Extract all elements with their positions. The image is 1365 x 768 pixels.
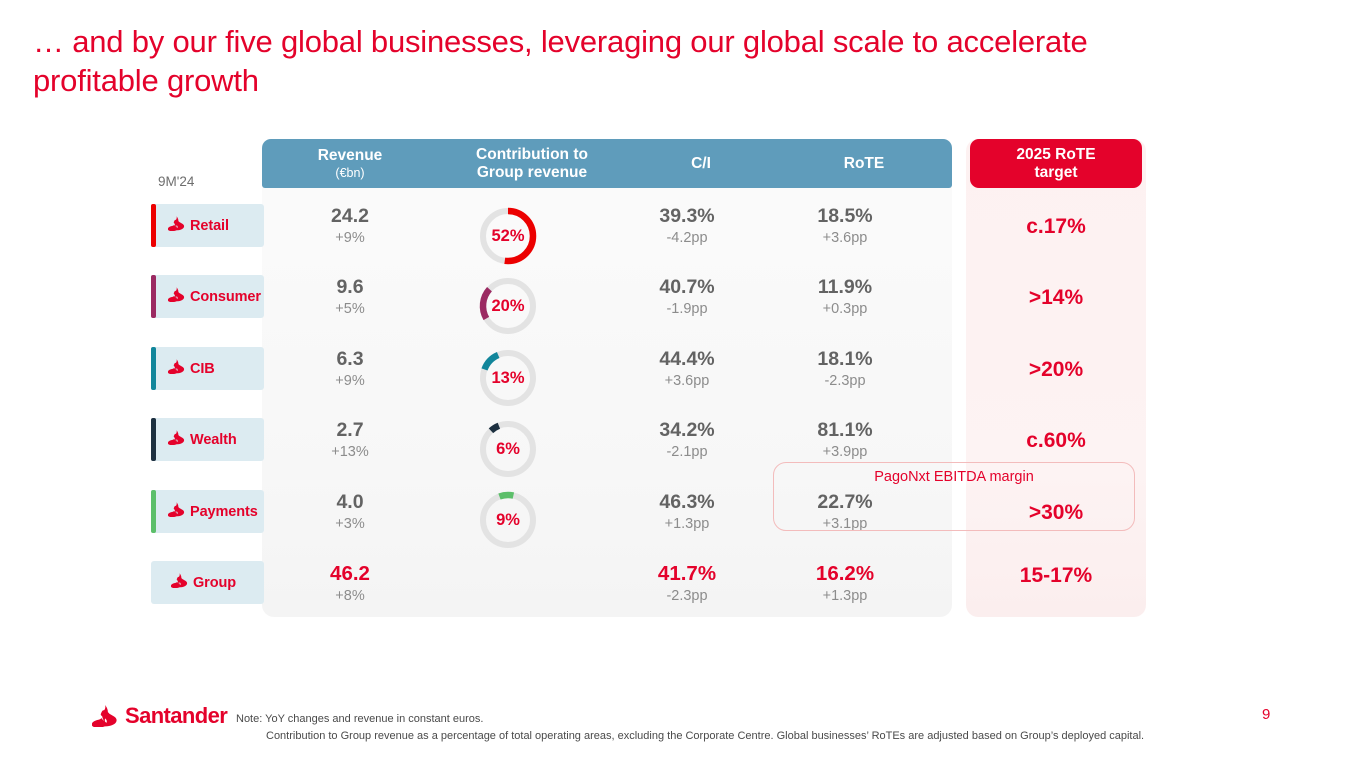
table-row: Wealth2.7+13% 6%34.2%-2.1pp81.1%+3.9ppc.… (0, 415, 1365, 487)
revenue-value: 9.6 (262, 276, 438, 299)
rote-cell: 16.2%+1.3pp (769, 562, 921, 605)
santander-logo: Santander (92, 703, 227, 729)
period-label: 9M'24 (158, 174, 194, 189)
chip-flame-icon (168, 359, 185, 379)
santander-flame-icon (92, 705, 118, 727)
slide: … and by our five global businesses, lev… (0, 0, 1365, 768)
footnote: Note: YoY changes and revenue in constan… (236, 711, 1246, 745)
business-color-bar (151, 204, 156, 247)
revenue-cell: 24.2+9% (262, 205, 438, 247)
rote-value: 11.9% (769, 276, 921, 299)
header-ci: C/I (626, 139, 776, 188)
contribution-donut-cib: 13% (477, 347, 539, 409)
revenue-value: 4.0 (262, 491, 438, 514)
business-chip-consumer[interactable]: Consumer (151, 275, 264, 318)
santander-flame-icon (171, 573, 188, 588)
table-row: CIB6.3+9% 13%44.4%+3.6pp18.1%-2.3pp>20% (0, 344, 1365, 416)
contribution-donut-retail: 52% (477, 205, 539, 267)
business-chip-payments[interactable]: Payments (151, 490, 264, 533)
ci-delta: -4.2pp (611, 230, 763, 247)
target-value: 15-17% (1020, 564, 1092, 587)
pagonxt-callout: PagoNxt EBITDA margin (773, 462, 1135, 531)
business-name: Group (193, 575, 236, 591)
santander-wordmark: Santander (125, 703, 227, 729)
revenue-cell: 6.3+9% (262, 348, 438, 390)
rote-cell: 18.1%-2.3pp (769, 348, 921, 390)
revenue-value: 6.3 (262, 348, 438, 371)
rote-delta: -2.3pp (769, 373, 921, 390)
pagonxt-caption: PagoNxt EBITDA margin (774, 469, 1134, 485)
contribution-label: 13% (477, 347, 539, 409)
business-name: CIB (190, 361, 215, 377)
rote-cell: 11.9%+0.3pp (769, 276, 921, 318)
rote-value: 18.5% (769, 205, 921, 228)
ci-cell: 46.3%+1.3pp (611, 491, 763, 533)
ci-cell: 34.2%-2.1pp (611, 419, 763, 461)
table-row: Consumer9.6+5% 20%40.7%-1.9pp11.9%+0.3pp… (0, 272, 1365, 344)
contribution-donut-consumer: 20% (477, 275, 539, 337)
revenue-delta: +3% (262, 516, 438, 533)
contribution-label: 52% (477, 205, 539, 267)
page-number: 9 (1262, 706, 1270, 723)
santander-flame-icon (168, 502, 185, 517)
header-revenue: Revenue (€bn) (262, 139, 438, 188)
business-name: Payments (190, 504, 258, 520)
ci-value: 39.3% (611, 205, 763, 228)
business-color-bar (151, 347, 156, 390)
revenue-delta: +5% (262, 301, 438, 318)
rote-cell: 18.5%+3.6pp (769, 205, 921, 247)
revenue-cell: 46.2+8% (262, 562, 438, 605)
rote-delta: +3.6pp (769, 230, 921, 247)
table-row: Retail24.2+9% 52%39.3%-4.2pp18.5%+3.6ppc… (0, 201, 1365, 273)
business-name: Consumer (190, 289, 261, 305)
revenue-value: 46.2 (262, 562, 438, 586)
revenue-delta: +9% (262, 230, 438, 247)
table-row: Group46.2+8%41.7%-2.3pp16.2%+1.3pp15-17% (0, 558, 1365, 630)
chip-flame-icon (171, 573, 188, 593)
ci-cell: 41.7%-2.3pp (611, 562, 763, 605)
business-color-bar (151, 275, 156, 318)
ci-delta: -2.1pp (611, 444, 763, 461)
target-value: >20% (1029, 358, 1083, 381)
business-chip-cib[interactable]: CIB (151, 347, 264, 390)
revenue-cell: 2.7+13% (262, 419, 438, 461)
contribution-donut-wealth: 6% (477, 418, 539, 480)
revenue-value: 24.2 (262, 205, 438, 228)
chip-flame-icon (168, 430, 185, 450)
target-cell: c.60% (966, 429, 1146, 453)
contribution-label: 6% (477, 418, 539, 480)
business-color-bar (151, 418, 156, 461)
rote-delta: +3.9pp (769, 444, 921, 461)
rote-delta: +1.3pp (769, 588, 921, 605)
business-chip-wealth[interactable]: Wealth (151, 418, 264, 461)
rote-value: 16.2% (769, 562, 921, 586)
target-cell: 15-17% (966, 564, 1146, 588)
header-target: 2025 RoTE target (970, 139, 1142, 188)
footnote-line-2: Contribution to Group revenue as a perce… (266, 728, 1246, 745)
ci-value: 46.3% (611, 491, 763, 514)
page-title: … and by our five global businesses, lev… (33, 22, 1213, 101)
revenue-delta: +8% (262, 588, 438, 605)
chip-flame-icon (168, 502, 185, 522)
rote-cell: 81.1%+3.9pp (769, 419, 921, 461)
header-rote: RoTE (776, 139, 952, 188)
rote-delta: +0.3pp (769, 301, 921, 318)
santander-flame-icon (168, 216, 185, 231)
chip-flame-icon (168, 287, 185, 307)
ci-delta: +3.6pp (611, 373, 763, 390)
rote-value: 81.1% (769, 419, 921, 442)
table-header-bar: Revenue (€bn) Contribution to Group reve… (262, 139, 952, 188)
ci-delta: +1.3pp (611, 516, 763, 533)
business-name: Retail (190, 218, 229, 234)
ci-cell: 40.7%-1.9pp (611, 276, 763, 318)
contribution-label: 20% (477, 275, 539, 337)
table-row: Payments4.0+3% 9%46.3%+1.3pp22.7%+3.1pp>… (0, 487, 1365, 559)
target-cell: >14% (966, 286, 1146, 310)
contribution-donut-payments: 9% (477, 489, 539, 551)
ci-delta: -2.3pp (611, 588, 763, 605)
business-name: Wealth (190, 432, 237, 448)
target-value: c.17% (1026, 215, 1086, 238)
santander-flame-icon (168, 287, 185, 302)
revenue-cell: 9.6+5% (262, 276, 438, 318)
ci-cell: 39.3%-4.2pp (611, 205, 763, 247)
target-cell: >20% (966, 358, 1146, 382)
business-color-bar (151, 490, 156, 533)
santander-flame-icon (168, 430, 185, 445)
ci-cell: 44.4%+3.6pp (611, 348, 763, 390)
revenue-delta: +9% (262, 373, 438, 390)
table-header-target: 2025 RoTE target (970, 139, 1142, 188)
ci-delta: -1.9pp (611, 301, 763, 318)
target-value: c.60% (1026, 429, 1086, 452)
ci-value: 34.2% (611, 419, 763, 442)
footnote-line-1: Note: YoY changes and revenue in constan… (236, 713, 483, 725)
ci-value: 44.4% (611, 348, 763, 371)
target-value: >14% (1029, 286, 1083, 309)
header-contribution: Contribution to Group revenue (438, 139, 626, 188)
target-cell: c.17% (966, 215, 1146, 239)
chip-flame-icon (168, 216, 185, 236)
business-chip-group[interactable]: Group (151, 561, 264, 604)
contribution-label: 9% (477, 489, 539, 551)
business-chip-retail[interactable]: Retail (151, 204, 264, 247)
revenue-value: 2.7 (262, 419, 438, 442)
ci-value: 41.7% (611, 562, 763, 586)
rote-value: 18.1% (769, 348, 921, 371)
revenue-cell: 4.0+3% (262, 491, 438, 533)
revenue-delta: +13% (262, 444, 438, 461)
santander-flame-icon (168, 359, 185, 374)
ci-value: 40.7% (611, 276, 763, 299)
